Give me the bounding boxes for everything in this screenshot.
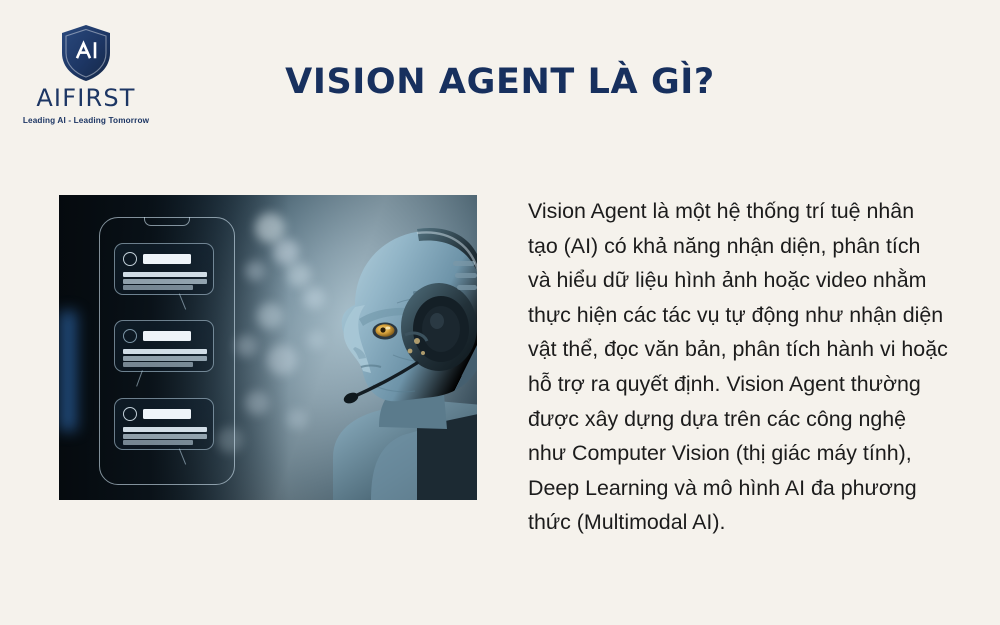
hero-image bbox=[59, 195, 477, 500]
chat-text-line bbox=[123, 285, 193, 290]
page-title: VISION AGENT LÀ GÌ? bbox=[0, 62, 1000, 102]
bokeh-circle bbox=[235, 335, 257, 357]
chat-title-bar bbox=[143, 409, 191, 419]
robot-figure bbox=[267, 195, 477, 500]
chat-text-line bbox=[123, 440, 193, 445]
chat-text-line bbox=[123, 362, 193, 367]
chat-text-line bbox=[123, 434, 207, 439]
chat-text-line bbox=[123, 427, 207, 432]
bokeh-circle bbox=[245, 391, 269, 415]
blue-light-streak bbox=[59, 311, 81, 431]
phone-notch bbox=[144, 217, 190, 226]
chat-text-line bbox=[123, 356, 207, 361]
chat-text-line bbox=[123, 279, 207, 284]
chat-bubble bbox=[114, 320, 214, 372]
brand-tagline: Leading AI - Leading Tomorrow bbox=[23, 116, 149, 125]
bokeh-circle bbox=[245, 261, 265, 281]
slide-canvas: AIFIRST Leading AI - Leading Tomorrow VI… bbox=[0, 0, 1000, 625]
chat-title-bar bbox=[143, 331, 191, 341]
chat-text-line bbox=[123, 349, 207, 354]
chat-title-bar bbox=[143, 254, 191, 264]
avatar bbox=[123, 252, 137, 266]
chat-bubble bbox=[114, 243, 214, 295]
chat-text-line bbox=[123, 272, 207, 277]
avatar bbox=[123, 329, 137, 343]
description-paragraph: Vision Agent là một hệ thống trí tuệ nhâ… bbox=[528, 194, 948, 540]
chat-bubble bbox=[114, 398, 214, 450]
avatar bbox=[123, 407, 137, 421]
